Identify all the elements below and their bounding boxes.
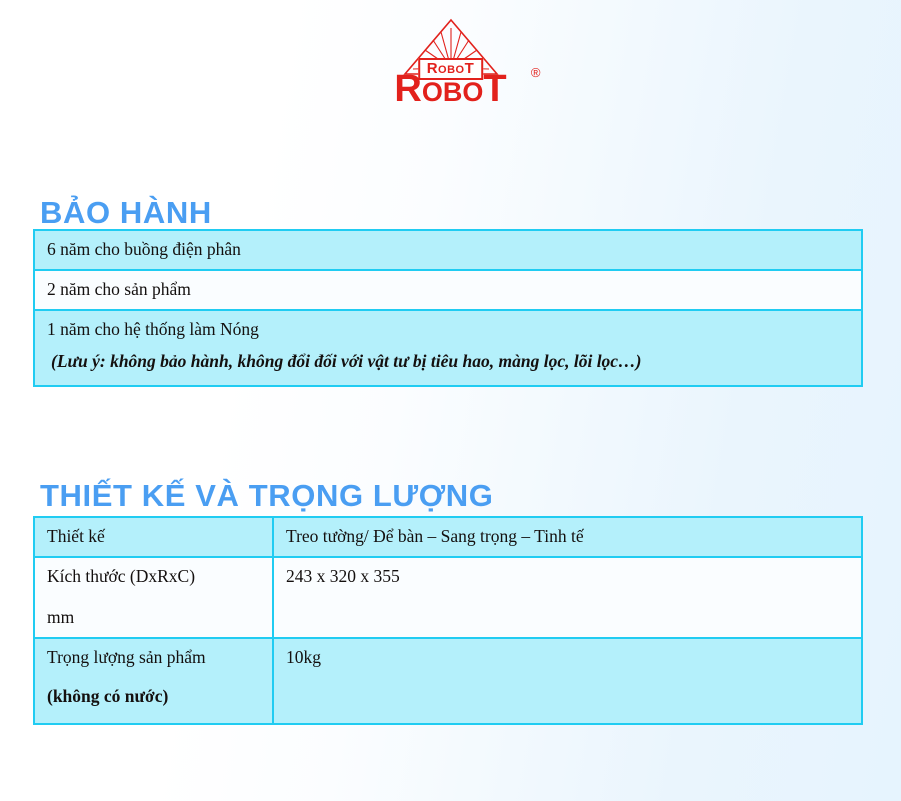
warranty-text: 1 năm cho hệ thống làm Nóng [47,319,259,339]
row-value: Treo tường/ Để bàn – Sang trọng – Tinh t… [286,526,584,546]
warranty-cell-heating-system: 1 năm cho hệ thống làm Nóng (Lưu ý: khôn… [34,310,862,386]
table-row: Thiết kế Treo tường/ Để bàn – Sang trọng… [34,517,862,557]
row-label-unit: mm [47,605,262,630]
registered-trademark-icon: ® [531,66,541,79]
brand-logo: ROBOT ROBOT ® [0,18,901,108]
section-title-warranty: BẢO HÀNH [40,195,212,231]
row-label: Thiết kế [47,526,105,546]
table-row: 6 năm cho buồng điện phân [34,230,862,270]
row-label-qualifier: (không có nước) [47,684,262,709]
design-weight-table: Thiết kế Treo tường/ Để bàn – Sang trọng… [33,516,863,725]
warranty-note: (Lưu ý: không bảo hành, không đổi đối vớ… [47,349,851,374]
design-value-dimensions: 243 x 320 x 355 [273,557,862,638]
row-value: 243 x 320 x 355 [286,566,400,586]
robot-wordmark: ROBOT [394,70,506,111]
warranty-table: 6 năm cho buồng điện phân 2 năm cho sản … [33,229,863,387]
design-value-weight: 10kg [273,638,862,724]
section-title-design: THIẾT KẾ VÀ TRỌNG LƯỢNG [40,478,493,514]
warranty-cell-electrolysis-chamber: 6 năm cho buồng điện phân [34,230,862,270]
table-row: Kích thước (DxRxC) mm 243 x 320 x 355 [34,557,862,638]
row-value: 10kg [286,647,321,667]
design-label-weight: Trọng lượng sản phẩm (không có nước) [34,638,273,724]
row-label: Trọng lượng sản phẩm [47,647,206,667]
design-label-dimensions: Kích thước (DxRxC) mm [34,557,273,638]
warranty-cell-product: 2 năm cho sản phẩm [34,270,862,310]
warranty-text: 2 năm cho sản phẩm [47,279,191,299]
table-row: 2 năm cho sản phẩm [34,270,862,310]
table-row: Trọng lượng sản phẩm (không có nước) 10k… [34,638,862,724]
warranty-text: 6 năm cho buồng điện phân [47,239,241,259]
design-label-style: Thiết kế [34,517,273,557]
row-label: Kích thước (DxRxC) [47,566,195,586]
design-value-style: Treo tường/ Để bàn – Sang trọng – Tinh t… [273,517,862,557]
table-row: 1 năm cho hệ thống làm Nóng (Lưu ý: khôn… [34,310,862,386]
